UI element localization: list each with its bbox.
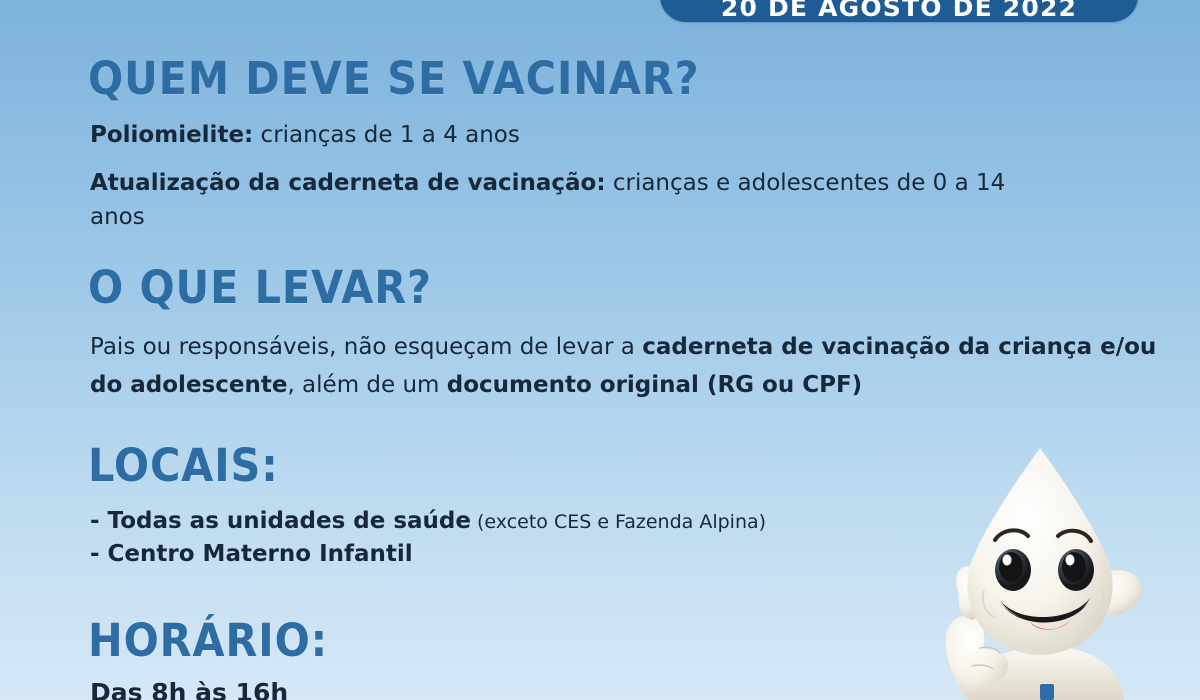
heading-horario: HORÁRIO:: [88, 618, 328, 664]
item-atualizacao-caderneta: Atualização da caderneta de vacinação: c…: [90, 166, 1010, 234]
ze-gotinha-mascot-illustration: [880, 440, 1200, 700]
heading-locais: LOCAIS:: [88, 443, 279, 489]
mascot-head: [967, 448, 1112, 655]
horario-text: Das 8h às 16h: [90, 676, 288, 700]
paragraph-bold-documento: documento original (RG ou CPF): [447, 372, 862, 398]
heading-quem-deve-se-vacinar: QUEM DEVE SE VACINAR?: [88, 56, 700, 102]
item-atualizacao-caderneta-label: Atualização da caderneta de vacinação:: [90, 170, 606, 196]
vaccination-campaign-poster: 20 DE AGOSTO DE 2022 QUEM DEVE SE VACINA…: [0, 0, 1200, 700]
paragraph-text-part-2: , além de um: [287, 372, 446, 398]
list-item-local-unidades-saude: - Todas as unidades de saúde (exceto CES…: [90, 504, 766, 539]
item-poliomielite-label: Poliomielite:: [90, 122, 253, 148]
campaign-date-banner: 20 DE AGOSTO DE 2022: [660, 0, 1138, 22]
paragraph-text-part-1: Pais ou responsáveis, não esqueçam de le…: [90, 334, 642, 360]
item-poliomielite: Poliomielite: crianças de 1 a 4 anos: [90, 118, 520, 152]
list-item-local-centro-materno: - Centro Materno Infantil: [90, 537, 413, 571]
local-centro-materno-main: - Centro Materno Infantil: [90, 541, 413, 567]
local-unidades-saude-main: - Todas as unidades de saúde: [90, 508, 471, 534]
heading-o-que-levar: O QUE LEVAR?: [88, 265, 432, 311]
local-unidades-saude-note: (exceto CES e Fazenda Alpina): [471, 511, 766, 533]
item-poliomielite-text: crianças de 1 a 4 anos: [253, 122, 520, 148]
paragraph-o-que-levar: Pais ou responsáveis, não esqueçam de le…: [90, 328, 1160, 404]
campaign-date-text: 20 DE AGOSTO DE 2022: [721, 0, 1077, 21]
